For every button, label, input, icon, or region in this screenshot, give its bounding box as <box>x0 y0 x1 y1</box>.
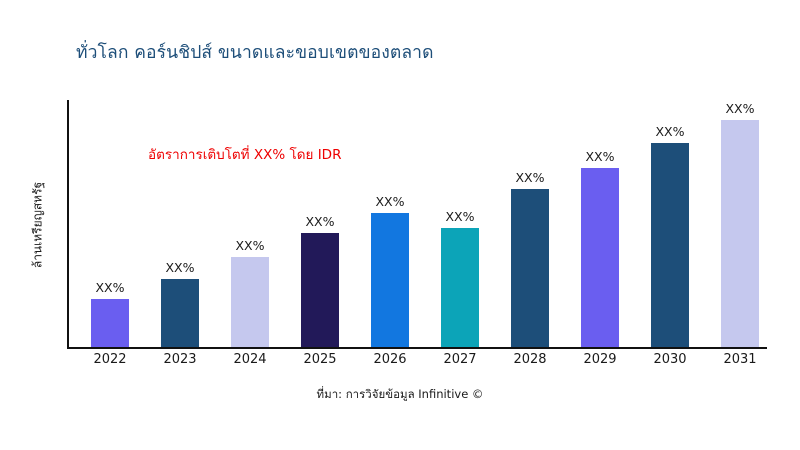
bar-2023[interactable] <box>161 279 199 347</box>
bar-value-label: XX% <box>375 196 404 209</box>
x-tick-2025: 2025 <box>285 352 355 367</box>
bar-value-label: XX% <box>655 126 684 139</box>
x-tick-2022: 2022 <box>75 352 145 367</box>
bar-group-2023: XX% <box>145 262 215 348</box>
page-title: ทั่วโลก คอร์นชิปส์ ขนาดและขอบเขตของตลาด <box>76 38 434 66</box>
bar-2024[interactable] <box>231 257 269 347</box>
bar-2025[interactable] <box>301 233 339 347</box>
bar-2026[interactable] <box>371 213 409 347</box>
bar-value-label: XX% <box>95 282 124 295</box>
bar-value-label: XX% <box>235 240 264 253</box>
y-axis-label: ล้านเหรียญสหรัฐ <box>29 182 48 268</box>
bar-group-2031: XX% <box>705 103 775 348</box>
bar-value-label: XX% <box>165 262 194 275</box>
x-tick-2030: 2030 <box>635 352 705 367</box>
y-axis-line <box>67 100 69 349</box>
bar-group-2028: XX% <box>495 172 565 348</box>
y-axis-label-container: ล้านเหรียญสหรัฐ <box>27 100 49 350</box>
bar-2030[interactable] <box>651 143 689 347</box>
bar-2027[interactable] <box>441 228 479 347</box>
x-tick-2023: 2023 <box>145 352 215 367</box>
x-tick-2024: 2024 <box>215 352 285 367</box>
x-tick-2026: 2026 <box>355 352 425 367</box>
bar-group-2027: XX% <box>425 211 495 348</box>
plot-area: XX%XX%XX%XX%XX%XX%XX%XX%XX%XX% <box>67 100 780 349</box>
bar-2022[interactable] <box>91 299 129 347</box>
bar-group-2026: XX% <box>355 196 425 348</box>
bar-group-2029: XX% <box>565 151 635 348</box>
bar-group-2022: XX% <box>75 282 145 348</box>
bar-2029[interactable] <box>581 168 619 347</box>
bar-value-label: XX% <box>585 151 614 164</box>
x-tick-2031: 2031 <box>705 352 775 367</box>
bar-value-label: XX% <box>305 216 334 229</box>
bar-group-2025: XX% <box>285 216 355 348</box>
bar-value-label: XX% <box>725 103 754 116</box>
growth-rate-annotation: อัตราการเติบโตที่ XX% โดย IDR <box>148 143 341 165</box>
bar-group-2030: XX% <box>635 126 705 348</box>
bar-group-2024: XX% <box>215 240 285 348</box>
bar-2031[interactable] <box>721 120 759 347</box>
x-tick-2029: 2029 <box>565 352 635 367</box>
x-tick-2027: 2027 <box>425 352 495 367</box>
x-tick-2028: 2028 <box>495 352 565 367</box>
bar-value-label: XX% <box>445 211 474 224</box>
bar-2028[interactable] <box>511 189 549 347</box>
bar-value-label: XX% <box>515 172 544 185</box>
x-axis-line <box>67 347 767 349</box>
chart-page: ทั่วโลก คอร์นชิปส์ ขนาดและขอบเขตของตลาด … <box>0 0 800 450</box>
source-note: ที่มา: การวิจัยข้อมูล Infinitive © <box>0 386 800 404</box>
